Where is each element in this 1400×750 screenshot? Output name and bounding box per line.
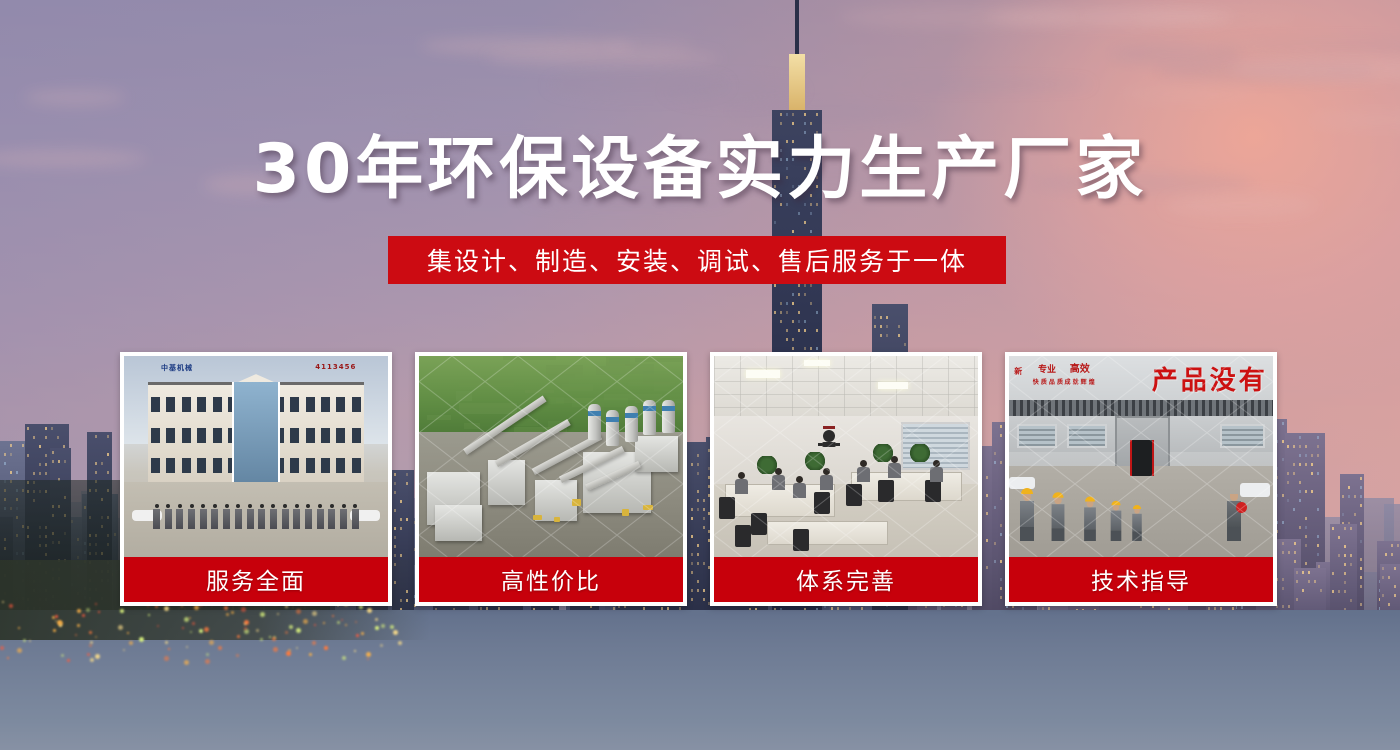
wall-small-text: 高效 xyxy=(1070,364,1090,375)
wall-small-text: 成 就 辉 煌 xyxy=(1064,380,1094,387)
subtitle-text: 集设计、制造、安装、调试、售后服务于一体 xyxy=(427,242,967,278)
company-headquarters-building-photo: 中基机械 4113456 xyxy=(124,356,388,557)
feature-card-label: 体系完善 xyxy=(796,562,896,596)
feature-card-list: 中基机械 4113456 服务全面 高性价比 xyxy=(120,352,1277,606)
card-label-bar: 服务全面 xyxy=(124,557,388,602)
feature-card[interactable]: 体系完善 xyxy=(710,352,982,606)
feature-card-label: 技术指导 xyxy=(1091,562,1191,596)
card-label-bar: 高性价比 xyxy=(419,557,683,602)
aerial-industrial-plant-photo xyxy=(419,356,683,557)
feature-card-label: 服务全面 xyxy=(206,562,306,596)
wall-small-text: 专业 xyxy=(1038,366,1056,376)
feature-card-label: 高性价比 xyxy=(501,562,601,596)
factory-workers-training-photo: 产品没有 新 专业 高效 快 质 品 质 成 就 辉 煌 xyxy=(1009,356,1273,557)
office-interior-staff-photo xyxy=(714,356,978,557)
page-title: 30年环保设备实力生产厂家 xyxy=(0,133,1400,206)
factory-wall-slogan: 产品没有 xyxy=(1152,360,1268,397)
card-label-bar: 体系完善 xyxy=(714,557,978,602)
hero-banner: 30年环保设备实力生产厂家 集设计、制造、安装、调试、售后服务于一体 中基机械 … xyxy=(0,0,1400,750)
building-sign-text: 中基机械 xyxy=(161,363,193,373)
subtitle-banner: 集设计、制造、安装、调试、售后服务于一体 xyxy=(388,236,1006,284)
wall-small-text: 新 xyxy=(1014,368,1022,377)
feature-card[interactable]: 产品没有 新 专业 高效 快 质 品 质 成 就 辉 煌 技术指导 xyxy=(1005,352,1277,606)
card-label-bar: 技术指导 xyxy=(1009,557,1273,602)
wall-logo-icon xyxy=(814,424,844,452)
building-phone-text: 4113456 xyxy=(315,363,356,371)
wall-small-text: 快 质 品 质 xyxy=(1033,380,1063,387)
feature-card[interactable]: 中基机械 4113456 服务全面 xyxy=(120,352,392,606)
feature-card[interactable]: 高性价比 xyxy=(415,352,687,606)
